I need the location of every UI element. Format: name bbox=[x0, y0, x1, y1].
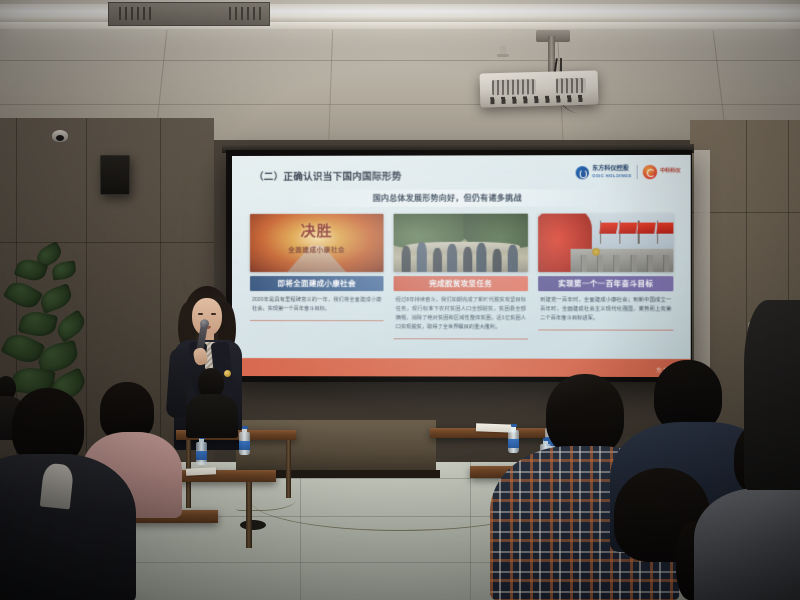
photo-building bbox=[570, 249, 673, 272]
stand-base bbox=[240, 520, 266, 530]
column-3-rule bbox=[538, 329, 673, 330]
security-camera-icon bbox=[52, 130, 68, 142]
slide-columns: 决胜 全面建成小康社会 即将全面建成小康社会 2020年是具有里程碑意义的一年，… bbox=[250, 213, 674, 339]
photo-emblem-icon bbox=[592, 247, 600, 255]
desk-leg-4 bbox=[246, 482, 252, 548]
poster-headline: 决胜 bbox=[250, 220, 383, 241]
conference-room-photo: （二）正确认识当下国内国际形势 东方科仪控股 OSIC HOLDINGS 中科科… bbox=[0, 0, 800, 600]
ceiling-air-vent bbox=[108, 2, 270, 26]
slide-title: （二）正确认识当下国内国际形势 bbox=[254, 169, 402, 183]
slide-logos: 东方科仪控股 OSIC HOLDINGS 中科科仪 bbox=[576, 165, 681, 179]
projector-vent-right bbox=[556, 78, 586, 94]
rural-meeting-photo bbox=[394, 214, 528, 272]
ceiling-projector bbox=[480, 70, 599, 107]
front-podium-table bbox=[236, 420, 436, 476]
column-1-rule bbox=[250, 320, 383, 321]
screen-blank-margin bbox=[694, 150, 710, 390]
presenter-face bbox=[192, 298, 222, 336]
desk-leg-2 bbox=[286, 440, 291, 498]
water-bottle bbox=[239, 426, 250, 455]
column-2-caption: 完成脱贫攻坚任务 bbox=[394, 276, 528, 291]
column-1-caption: 即将全面建成小康社会 bbox=[250, 276, 383, 291]
column-3-caption: 实现第一个一百年奋斗目标 bbox=[538, 276, 673, 291]
column-3-body: 到建党一百年时，全面建成小康社会；到新中国成立一百年时，全面建成社会主义现代化强… bbox=[538, 296, 673, 323]
projector-ports bbox=[490, 95, 588, 105]
osic-logo-cn: 东方科仪控股 bbox=[592, 166, 631, 172]
secondary-red-logo: 中科科仪 bbox=[643, 165, 681, 179]
fire-sprinkler-icon bbox=[500, 46, 506, 55]
slide-column-1: 决胜 全面建成小康社会 即将全面建成小康社会 2020年是具有里程碑意义的一年，… bbox=[250, 214, 383, 339]
red-flags-photo bbox=[538, 213, 673, 272]
slide-subtitle-bar: 国内总体发展形势向好，但仍有诸多挑战 bbox=[296, 189, 599, 207]
projector-vent-left bbox=[492, 79, 536, 95]
presenter-badge-icon bbox=[224, 370, 231, 377]
column-2-rule bbox=[394, 338, 528, 339]
column-2-body: 经过8年持续奋斗，我们如期完成了新时代脱贫攻坚目标任务，现行标准下农村贫困人口全… bbox=[394, 296, 528, 332]
column-1-body: 2020年是具有里程碑意义的一年，我们将全面建成小康社会，实现第一个百年奋斗目标… bbox=[250, 296, 383, 314]
projected-slide: （二）正确认识当下国内国际形势 东方科仪控股 OSIC HOLDINGS 中科科… bbox=[232, 155, 691, 377]
osic-logo-icon bbox=[576, 166, 589, 179]
secondary-logo-cn: 中科科仪 bbox=[660, 169, 680, 174]
wall-speaker bbox=[100, 155, 130, 195]
poster-juesheng-xiaokang-image: 决胜 全面建成小康社会 bbox=[250, 214, 383, 272]
slide-bottom-band: 东方科仪 bbox=[232, 358, 691, 377]
water-bottle bbox=[196, 436, 207, 465]
logo-divider bbox=[637, 165, 638, 179]
secondary-logo-icon bbox=[643, 165, 657, 179]
slide-subtitle: 国内总体发展形势向好，但仍有诸多挑战 bbox=[373, 193, 522, 204]
water-bottle bbox=[508, 424, 519, 453]
audience-shirt-collar bbox=[40, 463, 74, 510]
osic-logo-en: OSIC HOLDINGS bbox=[592, 173, 631, 178]
osic-holdings-logo: 东方科仪控股 OSIC HOLDINGS bbox=[576, 166, 632, 179]
slide-column-2: 完成脱贫攻坚任务 经过8年持续奋斗，我们如期完成了新时代脱贫攻坚目标任务，现行标… bbox=[394, 214, 528, 340]
poster-subhead: 全面建成小康社会 bbox=[250, 244, 383, 254]
slide-column-3: 实现第一个一百年奋斗目标 到建党一百年时，全面建成小康社会；到新中国成立一百年时… bbox=[538, 213, 673, 339]
